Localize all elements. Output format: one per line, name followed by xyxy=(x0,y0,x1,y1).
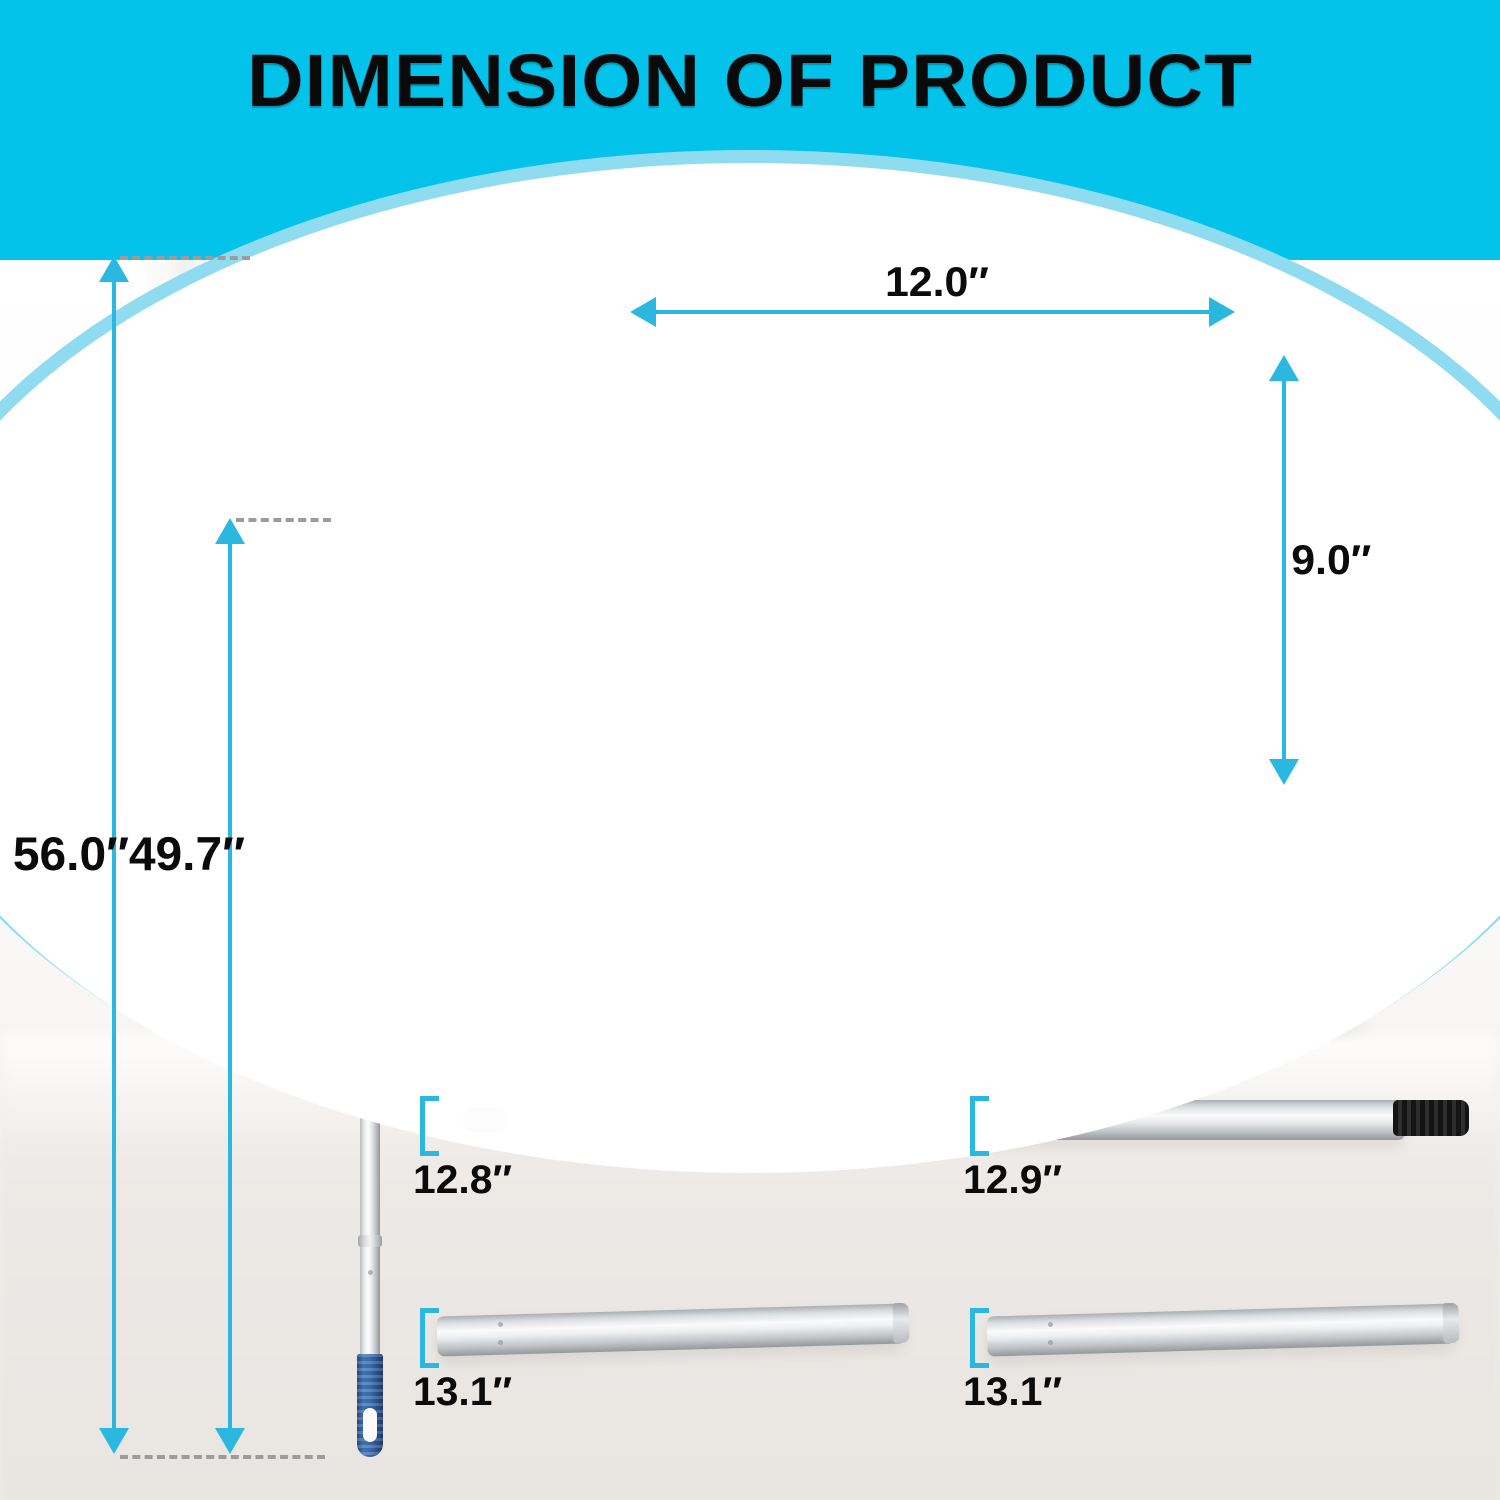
pole-section-4-rivet-a xyxy=(1048,1322,1053,1327)
pole-section-4-rivet-b xyxy=(1048,1340,1053,1345)
hanging-hole-vertical xyxy=(363,1408,377,1442)
pole-section-3-cap xyxy=(892,1303,909,1343)
hanging-hole-section-1 xyxy=(462,1108,508,1132)
dimension-label-head-width: 12.0″ xyxy=(885,258,989,306)
arrow-down-pole-length xyxy=(215,1428,245,1454)
arrow-right-head-width xyxy=(1209,297,1235,327)
dimension-label-section-1: 12.8″ xyxy=(413,1158,512,1203)
pole-rivet-lower xyxy=(368,1270,373,1275)
dimension-label-pole-length: 49.7″ xyxy=(129,826,245,881)
header-arch-fill xyxy=(0,163,1500,1173)
leader-dash-total-top xyxy=(120,256,250,260)
pole-section-4-cap xyxy=(1442,1303,1459,1343)
dimension-label-section-2: 12.9″ xyxy=(963,1158,1062,1203)
arrow-down-head-height xyxy=(1269,759,1299,785)
bracket-marker-section-4 xyxy=(970,1308,989,1368)
arrow-left-head-width xyxy=(630,297,656,327)
arrow-up-head-height xyxy=(1269,355,1299,381)
dimension-line-head-width xyxy=(654,310,1211,314)
leader-dash-pole-top xyxy=(236,518,331,522)
page-title: DIMENSION OF PRODUCT xyxy=(0,38,1500,123)
dimension-label-section-3: 13.1″ xyxy=(413,1370,512,1415)
pole-section-3-rivet-b xyxy=(498,1340,503,1345)
dimension-line-head-height xyxy=(1282,379,1286,761)
dimension-line-pole-length xyxy=(228,542,232,1430)
leader-dash-total-bottom xyxy=(120,1455,325,1459)
pole-section-3-rivet-a xyxy=(498,1322,503,1327)
pole-section-2-threaded-end xyxy=(1393,1100,1469,1136)
dimension-label-head-height: 9.0″ xyxy=(1291,536,1371,584)
pole-joint-lower xyxy=(358,1235,382,1247)
infographic-canvas: DIMENSION OF PRODUCT 56.0″ 49.7″ 12.0″ 9… xyxy=(0,0,1500,1500)
bracket-marker-section-3 xyxy=(420,1308,439,1368)
dimension-label-total-length: 56.0″ xyxy=(13,826,129,881)
bracket-marker-section-2 xyxy=(970,1096,989,1156)
dimension-label-section-4: 13.1″ xyxy=(963,1370,1062,1415)
arrow-down-total-length xyxy=(99,1428,129,1454)
bracket-marker-section-1 xyxy=(420,1096,439,1156)
